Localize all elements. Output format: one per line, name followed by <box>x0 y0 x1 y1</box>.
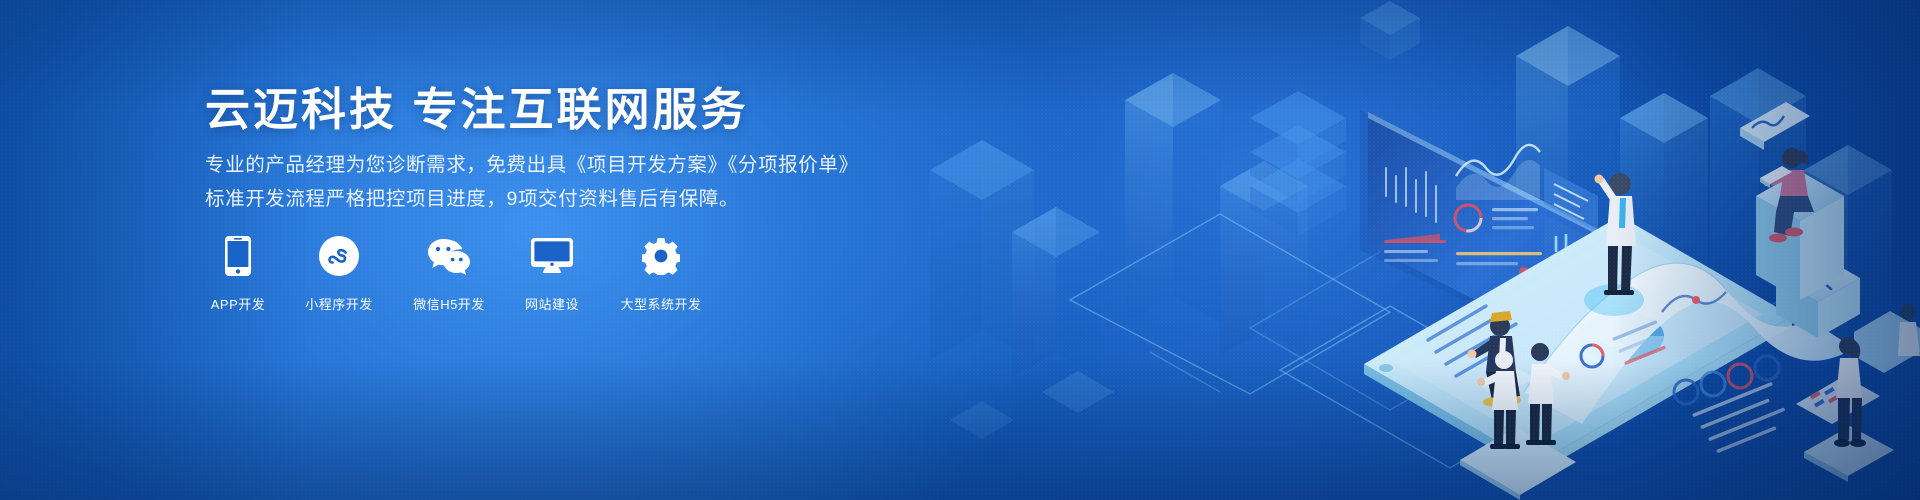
service-label: APP开发 <box>211 294 266 313</box>
service-item-app[interactable]: APP开发 <box>205 233 271 313</box>
service-label: 微信H5开发 <box>413 294 485 313</box>
promo-banner: 云迈科技 专注互联网服务 专业的产品经理为您诊断需求，免费出具《项目开发方案》《… <box>0 0 1920 500</box>
banner-subtitle-line-2: 标准开发流程严格把控项目进度，9项交付资料售后有保障。 <box>205 182 739 211</box>
banner-headline: 云迈科技 专注互联网服务 <box>205 73 749 138</box>
banner-subtitle-line-1: 专业的产品经理为您诊断需求，免费出具《项目开发方案》《分项报价单》 <box>205 148 859 177</box>
service-label: 小程序开发 <box>305 294 373 313</box>
service-icon-row: APP开发 小程序开发 <box>205 233 709 313</box>
service-item-large-system[interactable]: 大型系统开发 <box>613 233 709 313</box>
service-item-wechat-h5[interactable]: 微信H5开发 <box>407 233 491 313</box>
service-item-mini-program[interactable]: 小程序开发 <box>299 233 379 313</box>
mobile-phone-icon <box>225 233 251 279</box>
service-item-website[interactable]: 网站建设 <box>519 233 585 313</box>
service-label: 大型系统开发 <box>620 294 701 313</box>
gear-icon <box>642 233 680 279</box>
server-stack <box>1250 91 1346 236</box>
mini-program-icon <box>319 233 359 279</box>
wechat-icon <box>427 233 471 279</box>
banner-copy: 云迈科技 专注互联网服务 专业的产品经理为您诊断需求，免费出具《项目开发方案》《… <box>205 0 965 500</box>
illustration-technology-scene <box>920 0 1920 500</box>
service-label: 网站建设 <box>525 294 579 313</box>
monitor-icon <box>531 233 573 279</box>
